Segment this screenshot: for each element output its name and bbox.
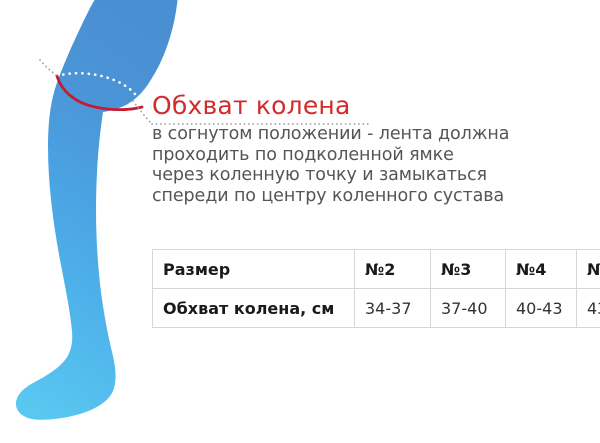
size-table: Размер №2 №3 №4 №5 Обхват колена, см 34-… [152,249,600,328]
callout-body: в согнутом положении - лента должна прох… [152,124,582,206]
table-cell-size-4: №4 [506,250,577,289]
table-cell-knee-5: 43-46 [577,289,600,328]
table-row-header: Размер №2 №3 №4 №5 [153,250,600,289]
callout-line-1: в согнутом положении - лента должна [152,124,582,145]
bent-leg-illustration [0,0,600,443]
callout-text-block: Обхват колена в согнутом положении - лен… [152,92,582,206]
table-cell-knee-4: 40-43 [506,289,577,328]
callout-line-3: через коленную точку и замыкаться [152,165,582,186]
leader-line-to-text [133,101,152,124]
leader-line-upper [40,60,57,76]
table-cell-size-5: №5 [577,250,600,289]
callout-line-4: спереди по центру коленного сустава [152,186,582,207]
tape-dotted-arc [57,73,142,107]
table-cell-knee-label: Обхват колена, см [153,289,355,328]
callout-title: Обхват колена [152,92,582,119]
table-cell-knee-3: 37-40 [431,289,506,328]
table-cell-size-2: №2 [355,250,431,289]
measuring-tape-arc [57,76,142,110]
table-cell-knee-2: 34-37 [355,289,431,328]
infographic-canvas: Обхват колена в согнутом положении - лен… [0,0,600,443]
table-cell-size-label: Размер [153,250,355,289]
table-cell-size-3: №3 [431,250,506,289]
table-row-measurement: Обхват колена, см 34-37 37-40 40-43 43-4… [153,289,600,328]
callout-line-2: проходить по подколенной ямке [152,145,582,166]
leg-silhouette [16,0,178,420]
